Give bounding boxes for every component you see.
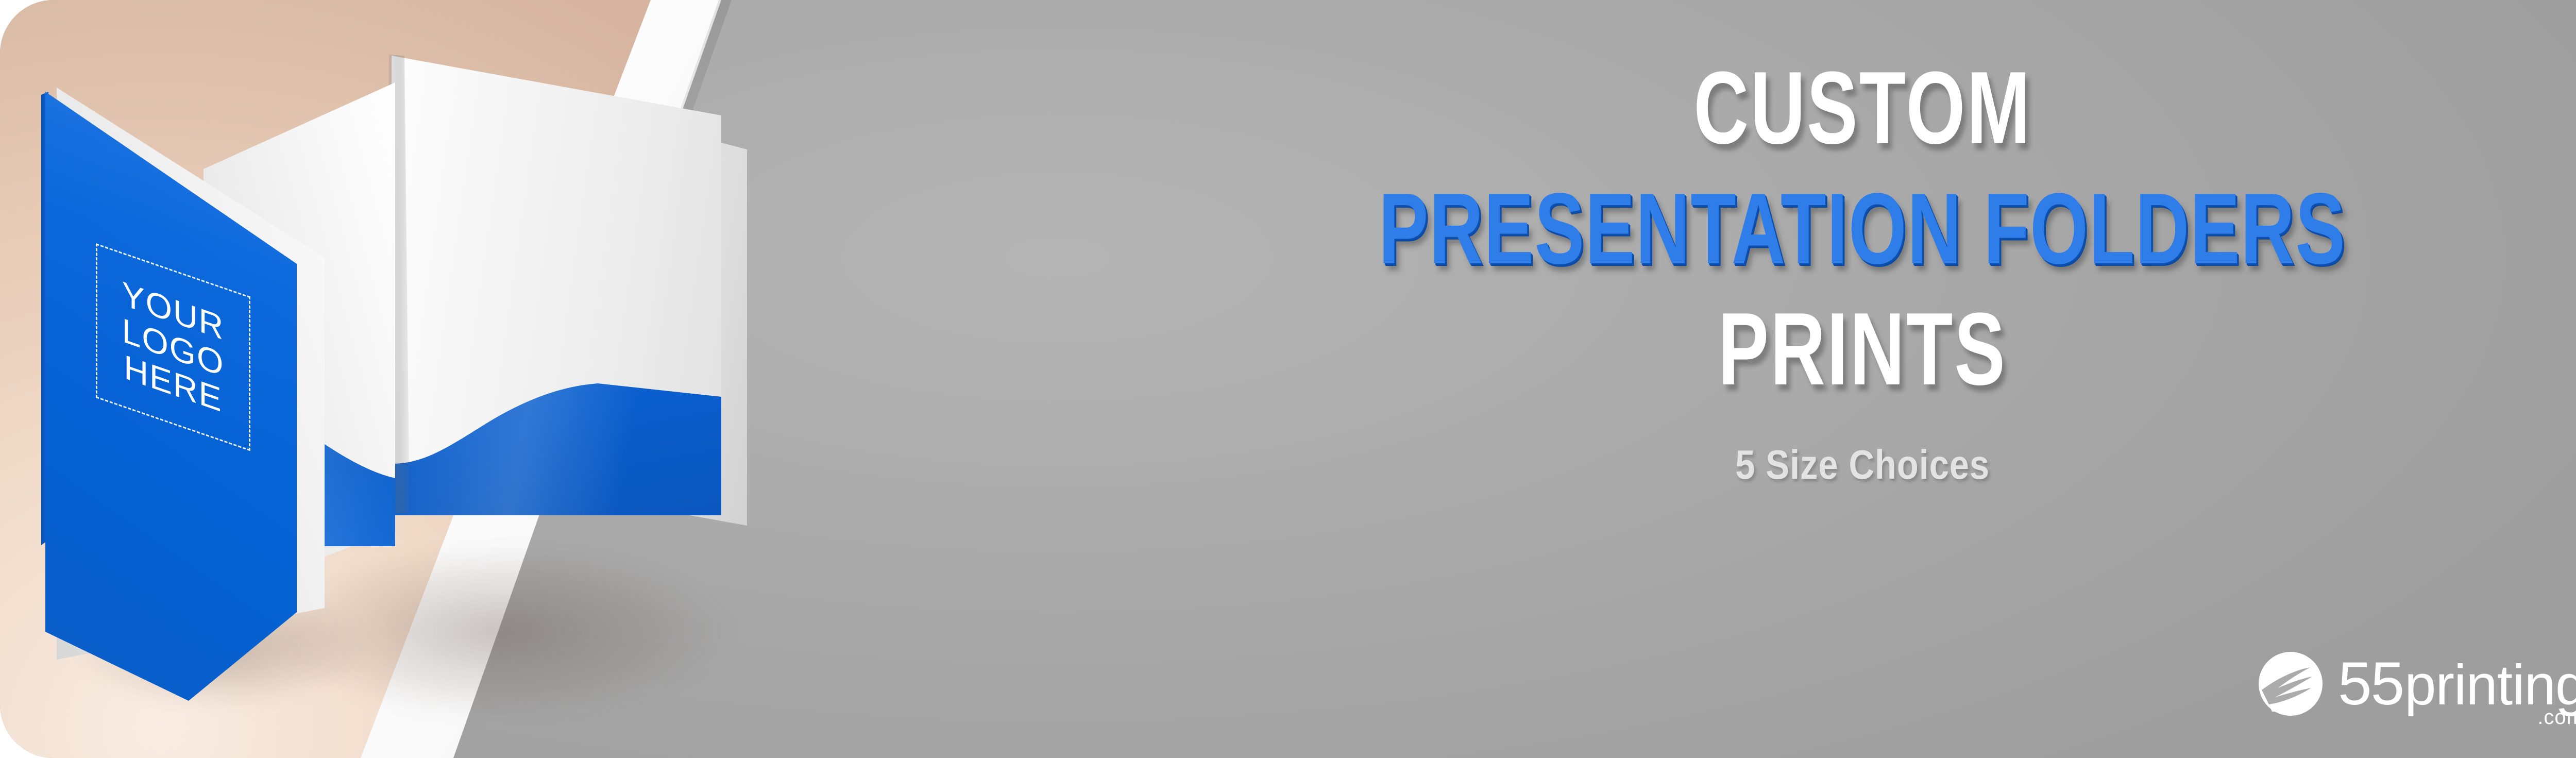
presentation-folder-mockup: YOUR LOGO HERE — [0, 0, 783, 758]
brand-tld: .com — [2537, 707, 2576, 728]
brand-name-secondary: printing — [2404, 657, 2576, 714]
promotional-banner: YOUR LOGO HERE CUSTOM PRESENTATION FOLDE… — [0, 0, 2576, 758]
globe-brushstroke-icon — [2257, 650, 2325, 718]
right-pocket-highlight — [392, 309, 721, 515]
brand-name-primary: 55 — [2338, 653, 2403, 714]
brand-logo[interactable]: 55 printing .com — [2257, 650, 2576, 718]
brand-wordmark: 55 printing .com — [2338, 653, 2576, 714]
folder-right-pocket — [392, 309, 721, 515]
